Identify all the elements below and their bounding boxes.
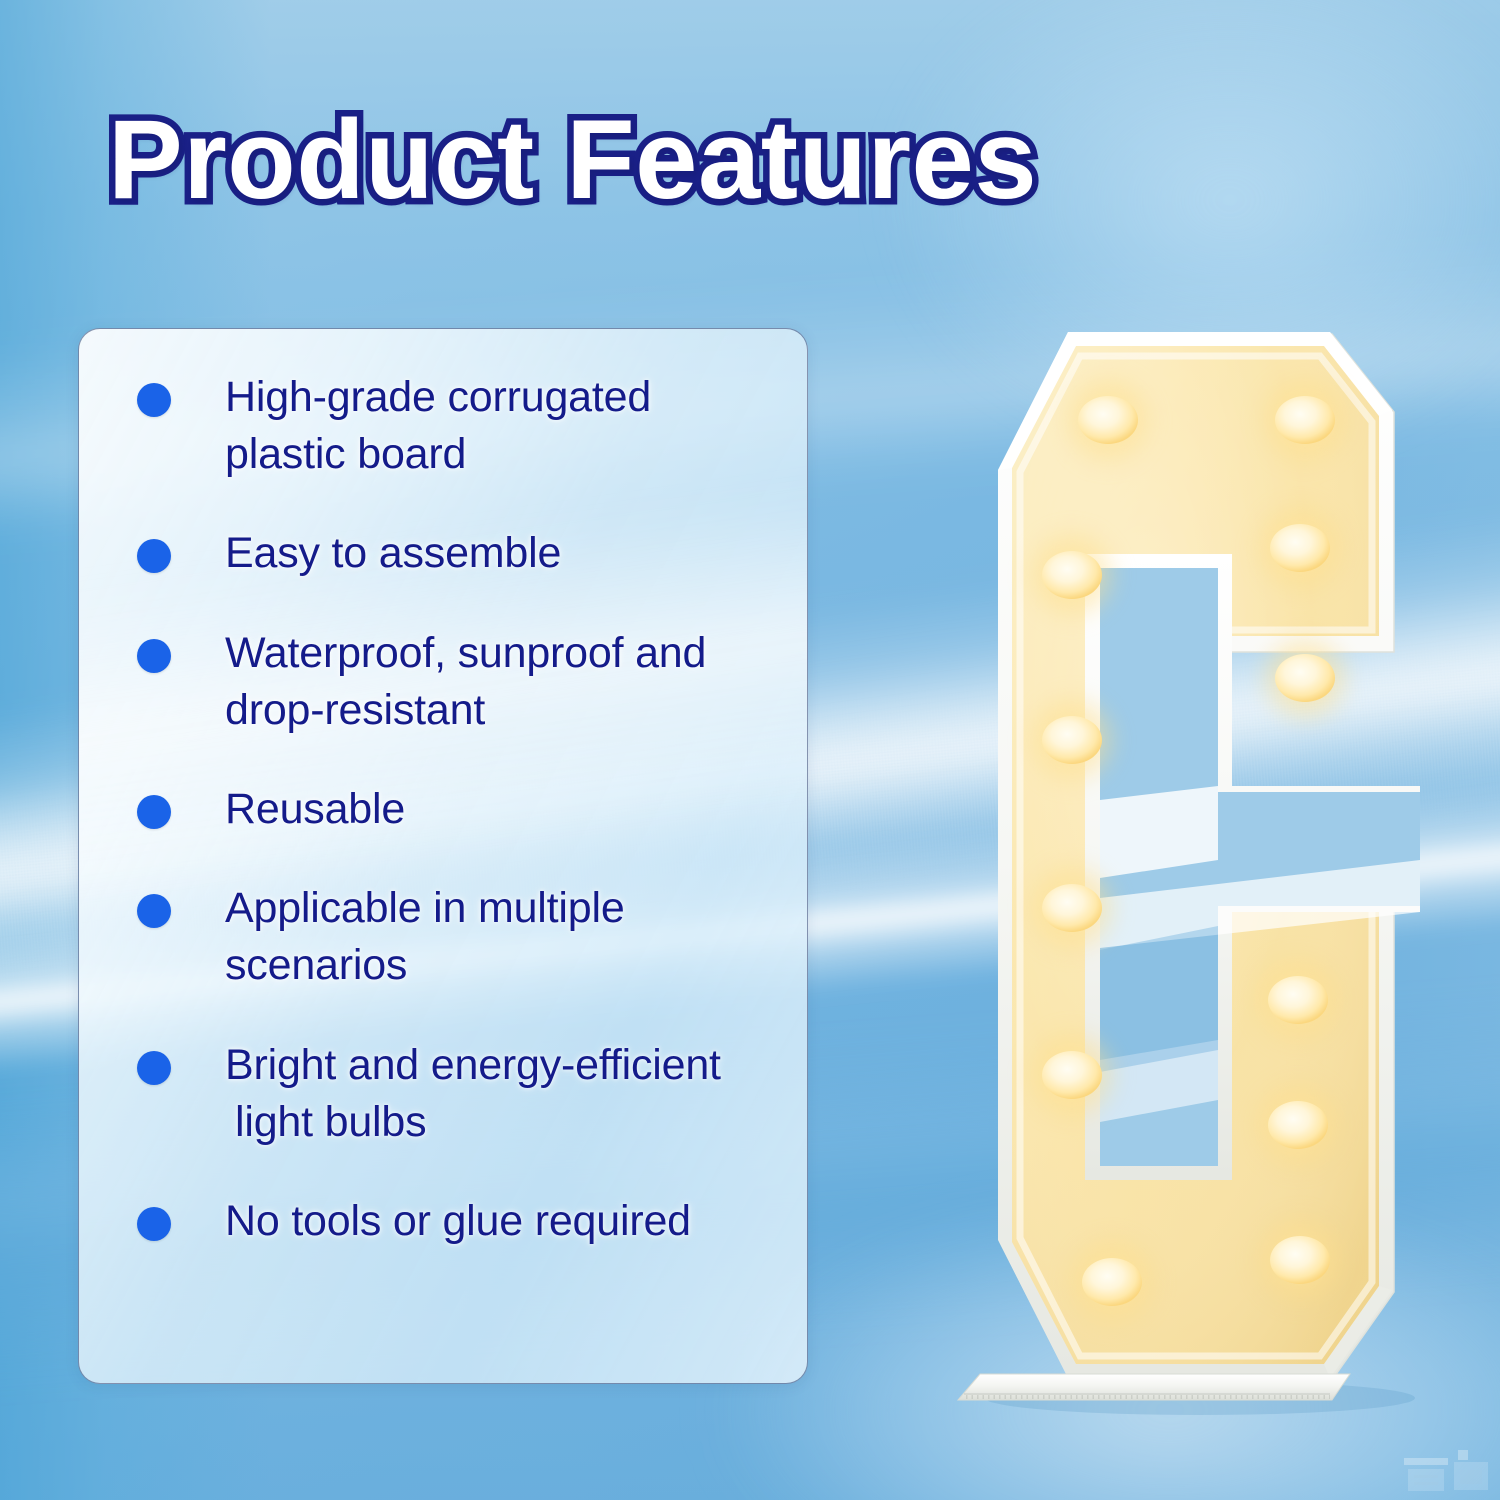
bullet-icon [137, 894, 171, 928]
led-bulb [1275, 396, 1335, 444]
list-item: Waterproof, sunproof anddrop-resistant [137, 625, 781, 739]
list-item: No tools or glue required [137, 1193, 781, 1250]
feature-text: Easy to assemble [225, 525, 561, 582]
feature-line-2: drop-resistant [225, 682, 706, 739]
feature-text: Reusable [225, 781, 405, 838]
feature-line-1: High-grade corrugated [225, 373, 651, 421]
feature-line-1: Applicable in multiple [225, 884, 625, 932]
led-bulb [1042, 884, 1102, 932]
bullet-icon [137, 795, 171, 829]
feature-line-2: scenarios [225, 937, 625, 994]
feature-line-1: Reusable [225, 785, 405, 833]
bullet-icon [137, 539, 171, 573]
feature-text: Bright and energy-efficient light bulbs [225, 1037, 721, 1151]
feature-line-1: Bright and energy-efficient [225, 1041, 721, 1089]
led-bulb [1082, 1258, 1142, 1306]
feature-line-2: plastic board [225, 426, 651, 483]
feature-text: Applicable in multiplescenarios [225, 880, 625, 994]
led-bulb [1078, 396, 1138, 444]
led-bulb [1268, 1101, 1328, 1149]
marquee-letter-c-graphic [880, 300, 1420, 1430]
list-item: Applicable in multiplescenarios [137, 880, 781, 994]
led-bulb [1275, 654, 1335, 702]
bullet-icon [137, 639, 171, 673]
list-item: High-grade corrugatedplastic board [137, 369, 781, 483]
led-bulb [1268, 976, 1328, 1024]
led-bulb [1270, 524, 1330, 572]
bullet-icon [137, 1207, 171, 1241]
bullet-icon [137, 383, 171, 417]
feature-list: High-grade corrugatedplastic board Easy … [79, 329, 807, 1250]
feature-card: High-grade corrugatedplastic board Easy … [78, 328, 808, 1384]
led-bulb [1270, 1236, 1330, 1284]
list-item: Bright and energy-efficient light bulbs [137, 1037, 781, 1151]
led-bulb [1042, 1051, 1102, 1099]
product-image [880, 300, 1420, 1430]
page-title: Product Features [108, 104, 1037, 216]
feature-line-1: No tools or glue required [225, 1197, 691, 1245]
letter-base-stand [958, 1374, 1350, 1400]
bullet-icon [137, 1051, 171, 1085]
feature-text: Waterproof, sunproof anddrop-resistant [225, 625, 706, 739]
list-item: Easy to assemble [137, 525, 781, 582]
feature-text: No tools or glue required [225, 1193, 691, 1250]
product-feature-image: Product Features High-grade corrugatedpl… [0, 0, 1500, 1500]
led-bulb [1042, 716, 1102, 764]
list-item: Reusable [137, 781, 781, 838]
led-bulb [1042, 551, 1102, 599]
feature-text: High-grade corrugatedplastic board [225, 369, 651, 483]
feature-line-1: Easy to assemble [225, 529, 561, 577]
letter-counter-opening-shade [1100, 926, 1218, 1072]
feature-line-1: Waterproof, sunproof and [225, 629, 706, 677]
feature-line-2: light bulbs [225, 1094, 721, 1151]
